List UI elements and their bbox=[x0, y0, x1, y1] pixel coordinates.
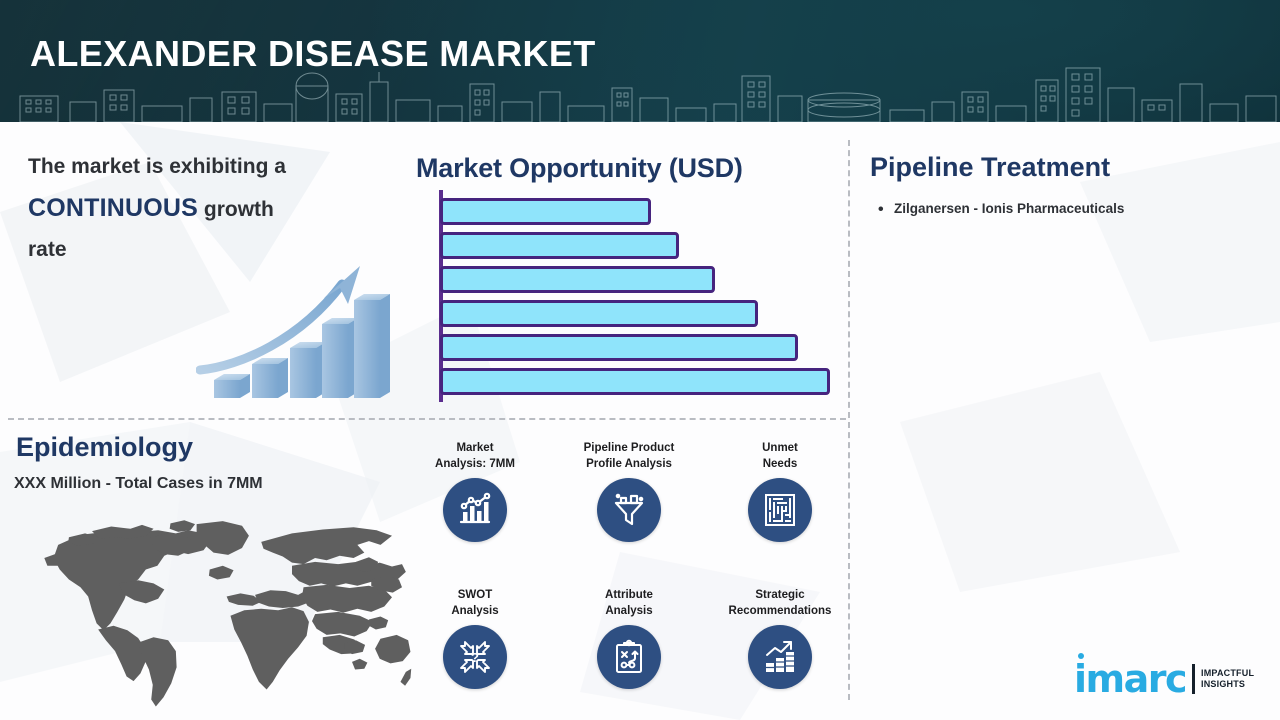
pipeline-title: Pipeline Treatment bbox=[870, 152, 1110, 183]
logo-divider bbox=[1192, 664, 1195, 694]
horizontal-divider bbox=[8, 418, 846, 420]
icon-label: Strategic Recommendations bbox=[705, 588, 855, 619]
icon-label: Unmet Needs bbox=[705, 441, 855, 472]
analysis-item-market[interactable]: Market Analysis: 7MM bbox=[400, 441, 550, 542]
logo-tagline-line1: IMPACTFUL bbox=[1201, 668, 1254, 679]
market-opportunity-chart bbox=[416, 190, 836, 405]
funnel-icon[interactable] bbox=[597, 478, 661, 542]
analysis-item-strategic-recommendations[interactable]: Strategic Recommendations bbox=[705, 588, 855, 689]
chart-bar bbox=[440, 198, 651, 225]
growth-arrow-bars-icon[interactable] bbox=[748, 625, 812, 689]
analysis-item-unmet-needs[interactable]: Unmet Needs bbox=[705, 441, 855, 542]
svg-text:?: ? bbox=[471, 650, 479, 665]
intro-highlight: CONTINUOUS bbox=[28, 194, 198, 222]
pipeline-list: Zilganersen - Ionis Pharmaceuticals bbox=[876, 198, 1256, 220]
chart-bar bbox=[440, 266, 715, 293]
icon-label: Market Analysis: 7MM bbox=[400, 441, 550, 472]
icon-label: Pipeline Product Profile Analysis bbox=[554, 441, 704, 472]
intro-text: The market is exhibiting a CONTINUOUS gr… bbox=[28, 148, 398, 269]
epidemiology-subtitle: XXX Million - Total Cases in 7MM bbox=[14, 475, 263, 493]
page-title: ALEXANDER DISEASE MARKET bbox=[30, 36, 596, 72]
chart-bar bbox=[440, 368, 830, 395]
analysis-item-swot[interactable]: SWOT Analysis ? bbox=[400, 588, 550, 689]
logo-tagline-line2: INSIGHTS bbox=[1201, 679, 1254, 690]
analysis-item-pipeline-profile[interactable]: Pipeline Product Profile Analysis bbox=[554, 441, 704, 542]
clipboard-strategy-icon[interactable] bbox=[597, 625, 661, 689]
logo-wordmark: imarc bbox=[1074, 660, 1186, 698]
maze-icon[interactable] bbox=[748, 478, 812, 542]
chart-bar bbox=[440, 232, 679, 259]
icon-label: Attribute Analysis bbox=[554, 588, 704, 619]
growth-bar-chart-arrow-icon bbox=[196, 258, 392, 410]
analysis-item-attribute[interactable]: Attribute Analysis bbox=[554, 588, 704, 689]
chart-bar bbox=[440, 300, 758, 327]
logo-dot bbox=[1078, 653, 1084, 659]
world-map-icon bbox=[22, 508, 412, 708]
four-arrows-question-icon[interactable]: ? bbox=[443, 625, 507, 689]
intro-line-2: growth bbox=[198, 198, 274, 221]
chart-title: Market Opportunity (USD) bbox=[416, 153, 743, 184]
intro-line-1: The market is exhibiting a bbox=[28, 155, 286, 178]
icon-label: SWOT Analysis bbox=[400, 588, 550, 619]
page-header: ALEXANDER DISEASE MARKET bbox=[0, 0, 1280, 122]
imarc-logo: imarc IMPACTFUL INSIGHTS bbox=[1074, 660, 1264, 708]
chart-bar bbox=[440, 334, 798, 361]
intro-line-3: rate bbox=[28, 238, 67, 261]
logo-tagline: IMPACTFUL INSIGHTS bbox=[1201, 668, 1254, 691]
list-item: Zilganersen - Ionis Pharmaceuticals bbox=[876, 198, 1256, 220]
bar-chart-trend-icon[interactable] bbox=[443, 478, 507, 542]
epidemiology-title: Epidemiology bbox=[16, 432, 193, 463]
